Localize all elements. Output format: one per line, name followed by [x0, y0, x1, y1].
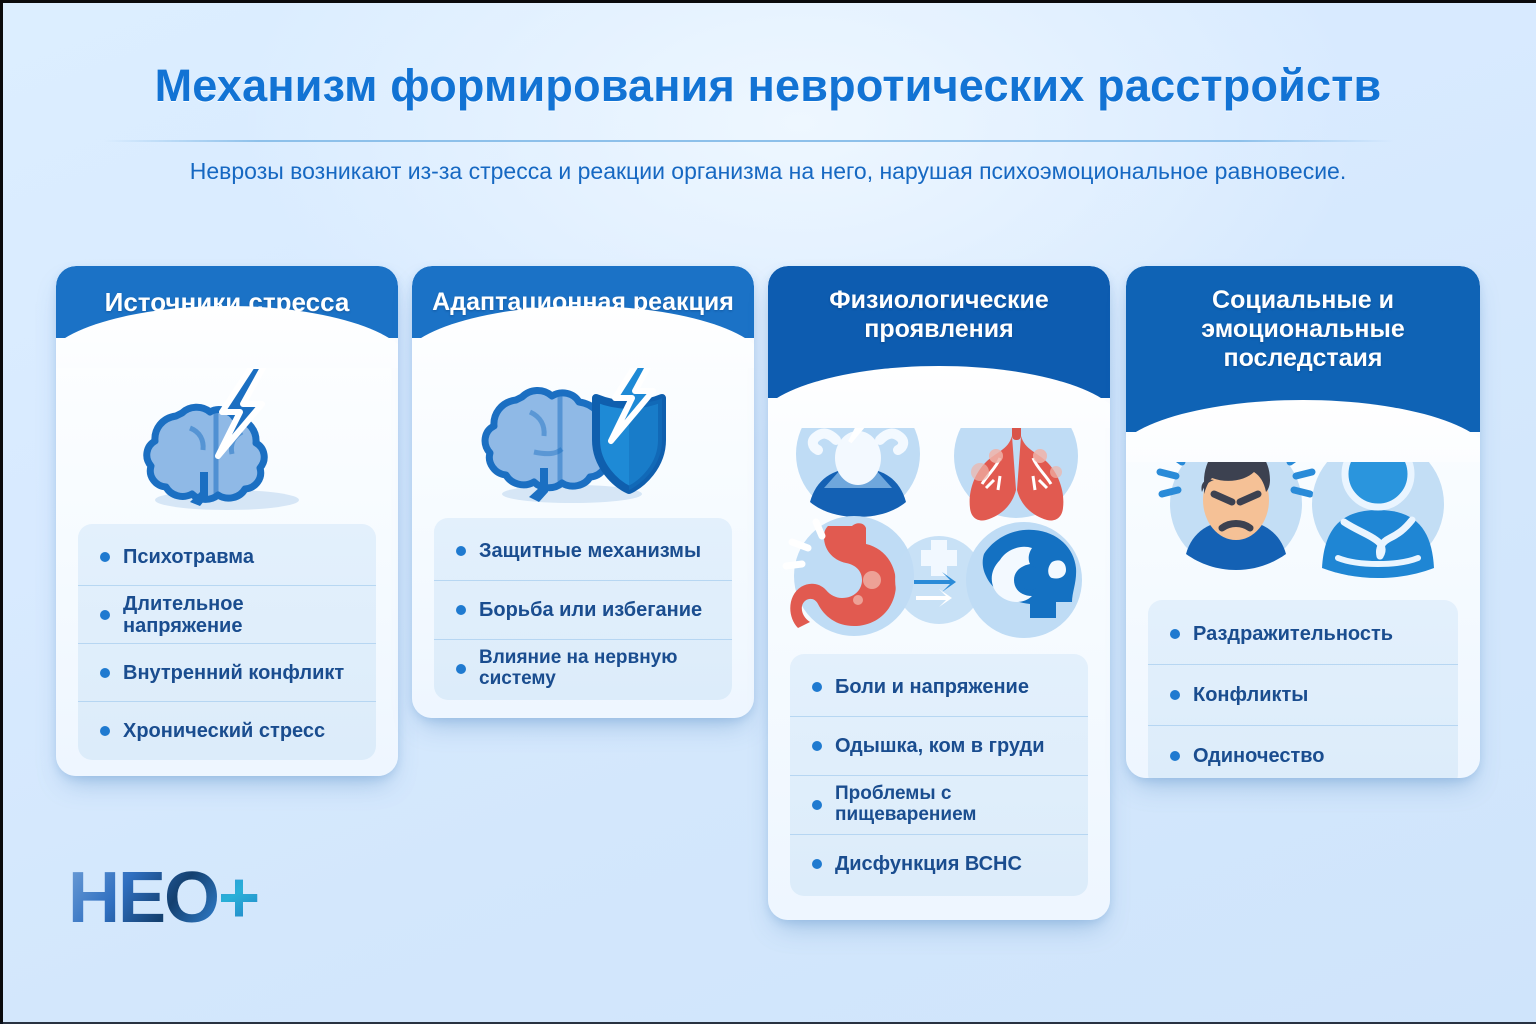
list-item[interactable]: Хронический стресс	[78, 701, 376, 759]
bullet-icon	[456, 546, 466, 556]
logo-plus-icon: +	[218, 858, 258, 938]
title-divider	[104, 140, 1394, 142]
list-item[interactable]: Проблемы с пищеварением	[790, 775, 1088, 834]
frame-edge-left	[0, 0, 3, 1024]
list-item[interactable]: Защитные механизмы	[434, 522, 732, 580]
card-header-adaptive-reaction: Адаптационная реакция	[412, 266, 754, 338]
bullet-icon	[1170, 751, 1180, 761]
page-subtitle: Неврозы возникают из-за стресса и реакци…	[0, 158, 1536, 185]
bullet-icon	[812, 682, 822, 692]
list-item[interactable]: Длительное напряжение	[78, 585, 376, 643]
list-item[interactable]: Психотравма	[78, 528, 376, 585]
list-item[interactable]: Одышка, ком в груди	[790, 716, 1088, 775]
header-curve	[1126, 400, 1480, 462]
brain-shield-lightning-icon	[412, 348, 754, 508]
header-curve	[768, 366, 1110, 428]
list-item[interactable]: Внутренний конфликт	[78, 643, 376, 701]
icon-brain-lightning	[56, 350, 398, 515]
card-physiological-manifestations[interactable]: Физиологические проявления	[768, 266, 1110, 920]
list-item[interactable]: Одиночество	[1148, 725, 1458, 778]
head-brain-icon	[966, 522, 1082, 638]
card-title: Физиологические проявления	[768, 286, 1110, 344]
bullet-icon	[100, 552, 110, 562]
list-item[interactable]: Раздражительность	[1148, 604, 1458, 664]
card-stress-sources[interactable]: Источники стресса Психотравма Длительное…	[56, 266, 398, 776]
list-physiological: Боли и напряжение Одышка, ком в груди Пр…	[790, 654, 1088, 896]
stomach-icon	[786, 516, 914, 636]
bullet-icon	[100, 726, 110, 736]
card-header-stress-sources: Источники стресса	[56, 266, 398, 338]
page-title: Механизм формирования невротических расс…	[0, 60, 1536, 112]
icon-brain-shield	[412, 348, 754, 508]
bullet-icon	[456, 664, 466, 674]
list-item[interactable]: Конфликты	[1148, 664, 1458, 725]
brand-logo: НЕО+	[68, 862, 258, 934]
list-item[interactable]: Дисфункция ВСНС	[790, 834, 1088, 893]
list-item[interactable]: Боли и напряжение	[790, 658, 1088, 716]
list-item[interactable]: Борьба или избегание	[434, 580, 732, 639]
bullet-icon	[1170, 690, 1180, 700]
card-header-physiological: Физиологические проявления	[768, 266, 1110, 398]
bullet-icon	[456, 605, 466, 615]
frame-edge-top	[0, 0, 1536, 3]
list-item[interactable]: Влияние на нервную систему	[434, 639, 732, 698]
list-adaptive-reaction: Защитные механизмы Борьба или избегание …	[434, 518, 732, 700]
bullet-icon	[812, 800, 822, 810]
brain-lightning-icon	[56, 350, 398, 515]
bullet-icon	[100, 668, 110, 678]
card-social-emotional[interactable]: Социальные и эмоциональные последстаия	[1126, 266, 1480, 778]
bullet-icon	[100, 610, 110, 620]
card-adaptive-reaction[interactable]: Адаптационная реакция Защитные механизмы…	[412, 266, 754, 718]
card-header-social-emotional: Социальные и эмоциональные последстаия	[1126, 266, 1480, 432]
bullet-icon	[1170, 629, 1180, 639]
logo-text: НЕО	[68, 858, 218, 938]
bullet-icon	[812, 859, 822, 869]
bullet-icon	[812, 741, 822, 751]
list-stress-sources: Психотравма Длительное напряжение Внутре…	[78, 524, 376, 760]
list-social-emotional: Раздражительность Конфликты Одиночество	[1148, 600, 1458, 778]
card-title: Социальные и эмоциональные последстаия	[1155, 286, 1451, 373]
